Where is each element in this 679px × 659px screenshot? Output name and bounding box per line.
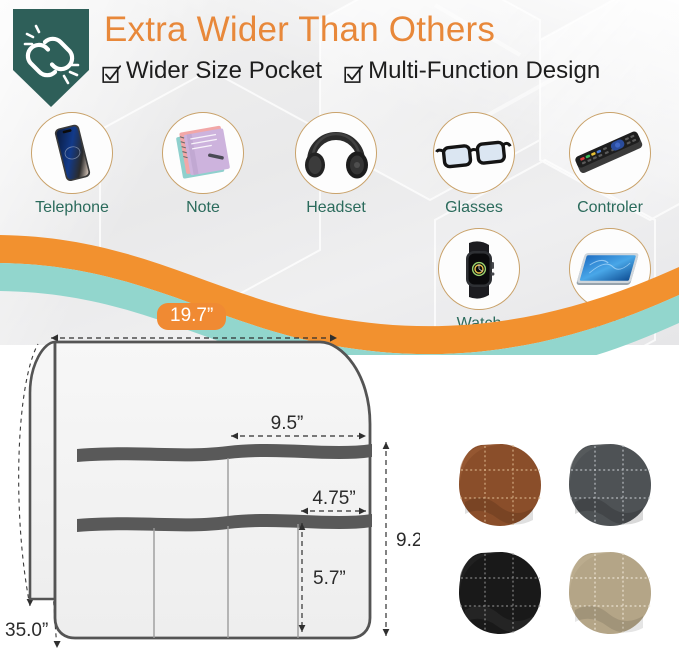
compat-item-headset: Headset: [288, 112, 384, 217]
chain-link-badge: [8, 6, 94, 110]
headphones-icon: [295, 112, 377, 194]
feature-label-0: Wider Size Pocket: [126, 56, 322, 86]
page-title: Extra Wider Than Others: [104, 10, 495, 50]
color-swatch-black: [455, 548, 545, 638]
compat-item-controler: Controler: [562, 112, 658, 217]
dim-label-lower-pocket-width: 4.75”: [312, 488, 355, 509]
dim-label-total-length: 35.0”: [5, 620, 48, 641]
compat-label-controler: Controler: [562, 199, 658, 217]
compat-item-telephone: Telephone: [24, 112, 120, 217]
dim-label-panel-height: 9.25”: [396, 530, 420, 551]
eyeglasses-icon: [433, 112, 515, 194]
color-swatch-brown: [455, 440, 545, 530]
compat-label-headset: Headset: [288, 199, 384, 217]
compat-label-note: Note: [155, 199, 251, 217]
color-swatch-gray: [565, 440, 655, 530]
compat-item-note: Note: [155, 112, 251, 217]
compat-label-glasses: Glasses: [426, 199, 522, 217]
color-swatch-beige: [565, 548, 655, 638]
product-dimension-diagram: 9.5” 4.75” 5.7” 9.25” 35.0”: [0, 318, 420, 659]
product-infographic: Extra Wider Than Others Wider Size Pocke…: [0, 0, 679, 659]
feature-item-0: Wider Size Pocket: [102, 56, 322, 86]
feature-label-1: Multi-Function Design: [368, 56, 600, 86]
notebook-icon: [162, 112, 244, 194]
feature-item-1: Multi-Function Design: [344, 56, 600, 86]
remote-control-icon: [569, 112, 651, 194]
compat-label-telephone: Telephone: [24, 199, 120, 217]
checkbox-checked-icon: [344, 62, 363, 81]
compat-item-glasses: Glasses: [426, 112, 522, 217]
dim-label-upper-pocket-width: 9.5”: [271, 413, 304, 434]
dim-label-lower-pocket-height: 5.7”: [313, 568, 346, 589]
color-swatch-group: [455, 440, 665, 645]
feature-list: Wider Size Pocket Multi-Function Design: [102, 56, 600, 86]
checkbox-checked-icon: [102, 62, 121, 81]
smartphone-icon: [31, 112, 113, 194]
